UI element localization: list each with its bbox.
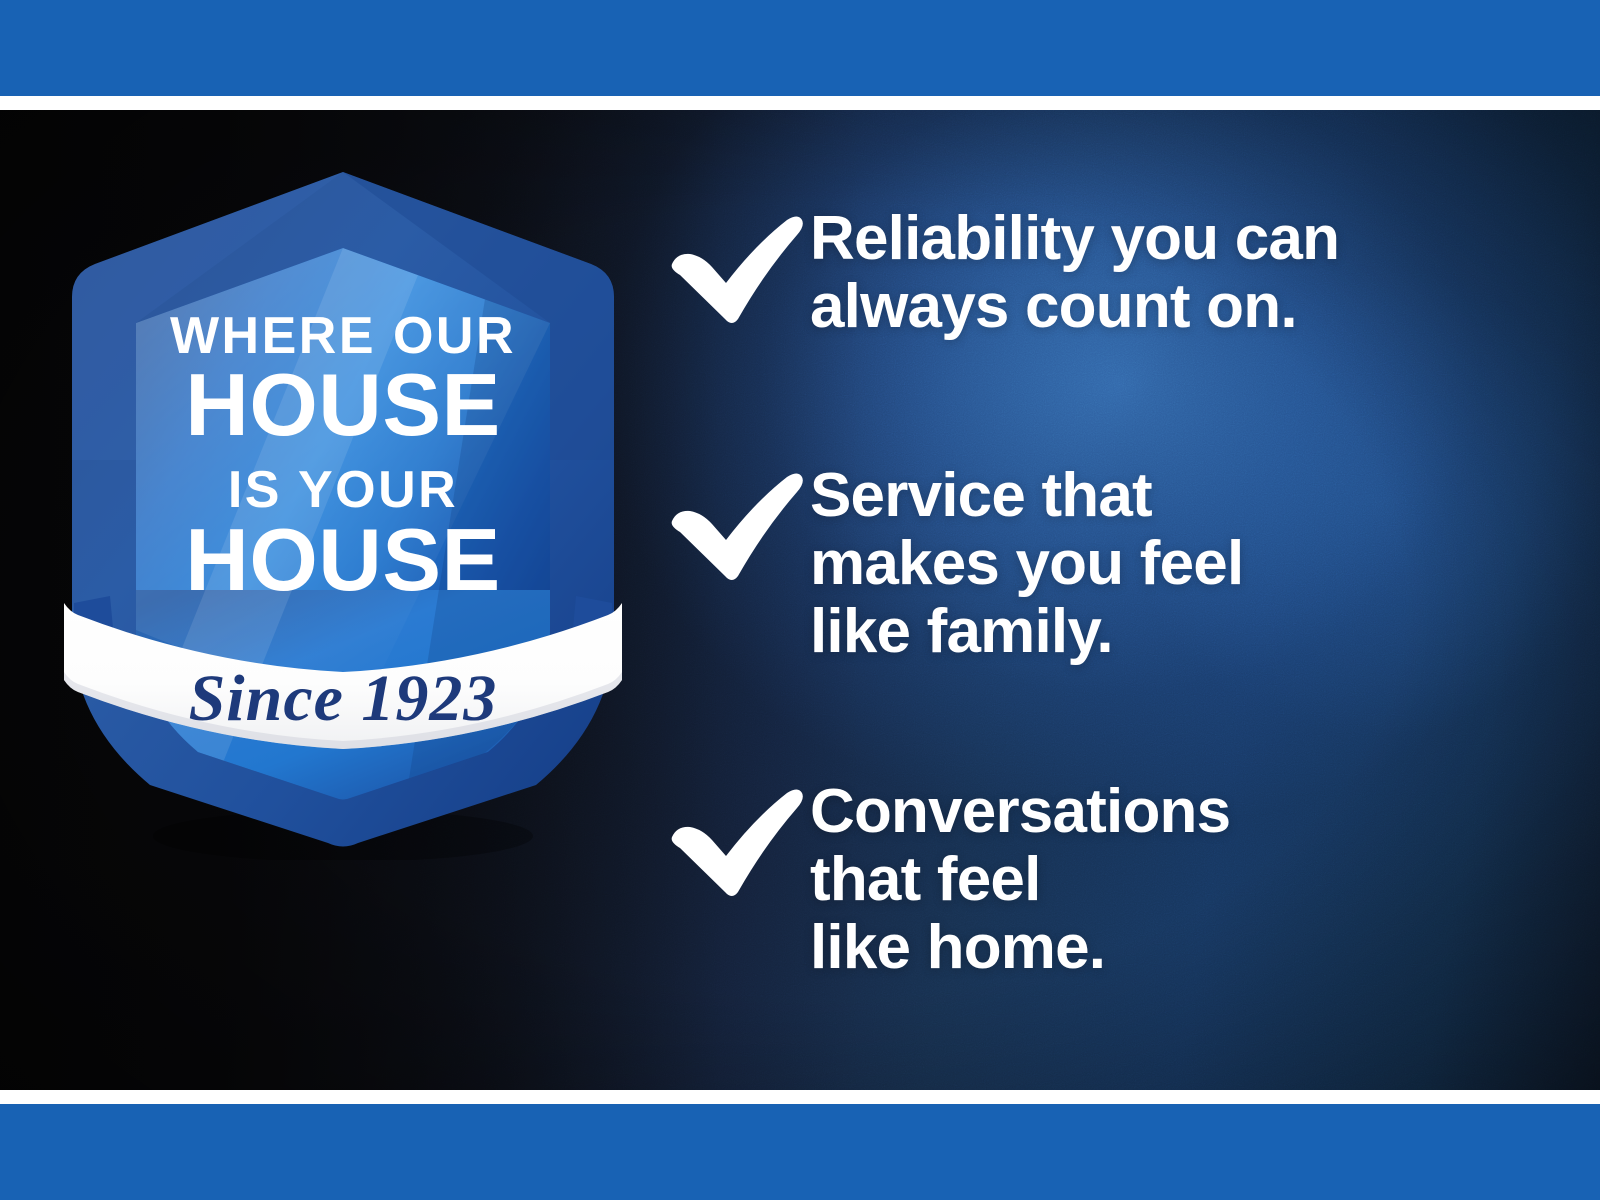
top-white-divider xyxy=(0,96,1600,110)
benefits-list: Reliability you can always count on. Ser… xyxy=(660,110,1560,1090)
ribbon-text: Since 1923 xyxy=(189,662,498,735)
benefit-line: like home. xyxy=(810,914,1230,982)
check-icon xyxy=(660,209,810,329)
benefit-text: Reliability you can always count on. xyxy=(810,205,1339,341)
benefit-text: Conversations that feel like home. xyxy=(810,778,1230,983)
benefit-line: Reliability you can xyxy=(810,205,1339,273)
emblem-line-2: HOUSE xyxy=(185,355,500,454)
bottom-white-divider xyxy=(0,1090,1600,1104)
benefit-line: Conversations xyxy=(810,778,1230,846)
emblem-line-4: HOUSE xyxy=(185,510,500,609)
bottom-brand-bar xyxy=(0,1104,1600,1200)
benefit-line: always count on. xyxy=(810,273,1339,341)
brand-emblem: WHERE OUR HOUSE IS YOUR HOUSE Since 1923 xyxy=(58,160,628,860)
promo-graphic: WHERE OUR HOUSE IS YOUR HOUSE Since 1923 xyxy=(0,0,1600,1200)
check-icon xyxy=(660,782,810,902)
benefit-text: Service that makes you feel like family. xyxy=(810,462,1243,667)
benefit-item: Conversations that feel like home. xyxy=(660,778,1230,983)
benefit-item: Reliability you can always count on. xyxy=(660,205,1339,341)
benefit-line: makes you feel xyxy=(810,530,1243,598)
top-brand-bar xyxy=(0,0,1600,96)
benefit-item: Service that makes you feel like family. xyxy=(660,462,1243,667)
benefit-line: Service that xyxy=(810,462,1243,530)
benefit-line: that feel xyxy=(810,846,1230,914)
benefit-line: like family. xyxy=(810,598,1243,666)
check-icon xyxy=(660,466,810,586)
